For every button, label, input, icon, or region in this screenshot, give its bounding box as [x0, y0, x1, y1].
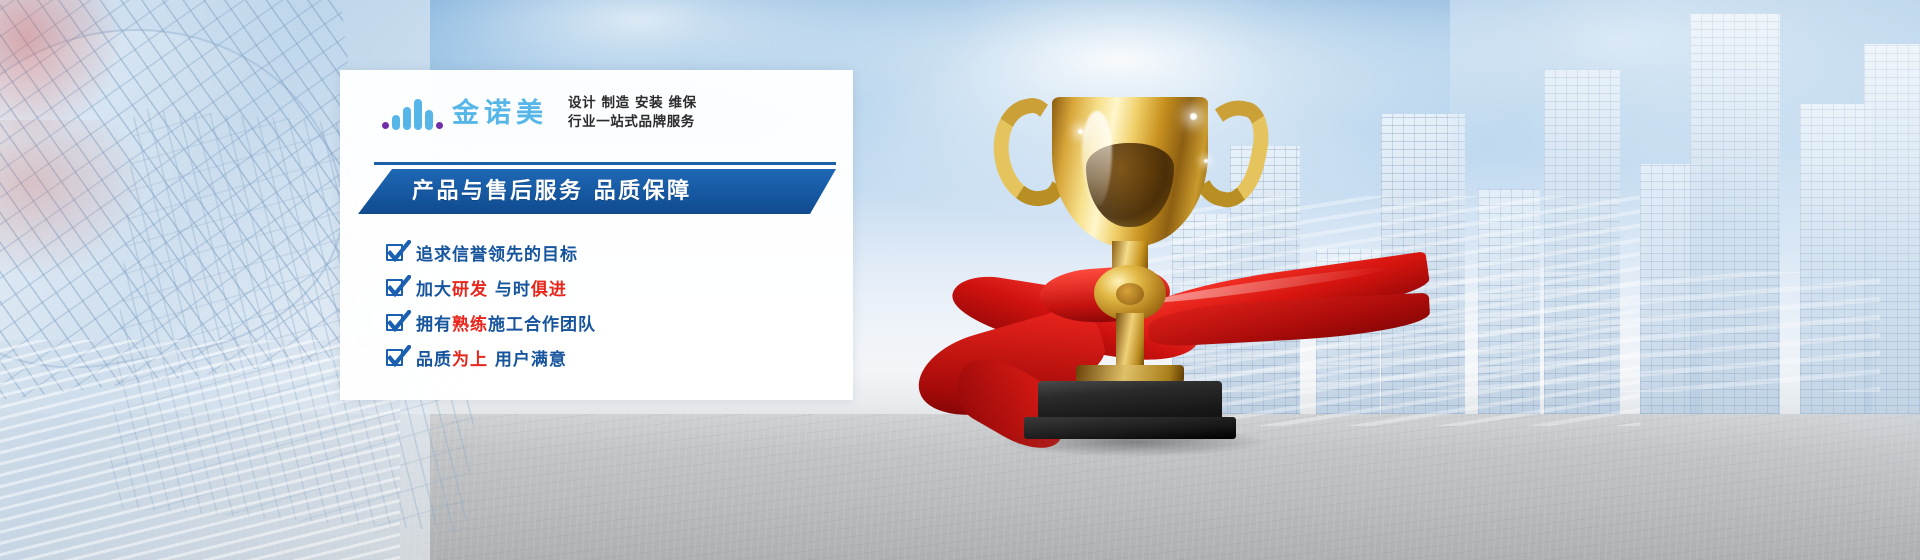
highlight-text: 俱进	[531, 280, 567, 300]
trophy-base-plate	[1024, 417, 1236, 439]
brand-tagline: 设计 制造 安装 维保 行业一站式品牌服务	[568, 94, 697, 132]
left-red-glow-2	[0, 120, 150, 280]
checkbox-checked-icon	[386, 314, 403, 331]
tagline-line-2: 行业一站式品牌服务	[568, 113, 697, 132]
highlight-text: 熟练	[452, 315, 488, 335]
sparkle-icon	[1204, 159, 1208, 163]
sound-wave-logo-icon	[382, 96, 443, 130]
feature-item-label: 加大研发 与时俱进	[416, 275, 567, 300]
checkbox-checked-icon	[386, 349, 403, 366]
logo-bar	[425, 110, 433, 130]
feature-item: 拥有熟练施工合作团队	[386, 305, 596, 339]
plain-text: 施工合作团队	[488, 315, 596, 335]
checkbox-checked-icon	[386, 244, 403, 261]
plain-text: 品质	[416, 350, 452, 370]
promo-banner: 金诺美 设计 制造 安装 维保 行业一站式品牌服务 产品与售后服务 品质保障 追…	[0, 0, 1920, 560]
logo-bar	[414, 99, 422, 130]
feature-item: 加大研发 与时俱进	[386, 270, 596, 304]
tagline-line-1: 设计 制造 安装 维保	[568, 94, 697, 113]
plain-text: 用户满意	[488, 350, 567, 370]
feature-item-label: 追求信誉领先的目标	[416, 240, 578, 265]
brand-name: 金诺美	[452, 100, 548, 127]
feature-item: 品质为上 用户满意	[386, 340, 596, 374]
headline-text: 产品与售后服务 品质保障	[412, 169, 692, 214]
trophy-stem	[1116, 313, 1144, 371]
plain-text: 追求信誉领先的目标	[416, 245, 578, 265]
feature-list: 追求信誉领先的目标加大研发 与时俱进拥有熟练施工合作团队品质为上 用户满意	[386, 235, 596, 375]
feature-item: 追求信誉领先的目标	[386, 235, 596, 269]
feature-item-label: 品质为上 用户满意	[416, 345, 567, 370]
plain-text: 加大	[416, 280, 452, 300]
logo-dot-left	[382, 122, 389, 129]
plain-text: 与时	[488, 280, 531, 300]
gold-trophy-illustration	[990, 55, 1270, 475]
highlight-text: 为上	[452, 350, 488, 370]
sparkle-icon	[1190, 113, 1197, 120]
logo-dot-right	[436, 122, 443, 129]
brand-lockup: 金诺美 设计 制造 安装 维保 行业一站式品牌服务	[382, 94, 697, 132]
checkbox-checked-icon	[386, 279, 403, 296]
plain-text: 拥有	[416, 315, 452, 335]
headline-top-rule	[374, 162, 836, 165]
trophy-rim	[1048, 91, 1212, 111]
logo-bar	[403, 107, 411, 130]
logo-bar	[392, 115, 400, 130]
trophy-knob-center	[1116, 283, 1144, 305]
headline-banner: 产品与售后服务 品质保障	[358, 162, 836, 214]
feature-item-label: 拥有熟练施工合作团队	[416, 310, 596, 335]
content-card: 金诺美 设计 制造 安装 维保 行业一站式品牌服务 产品与售后服务 品质保障 追…	[340, 70, 853, 400]
sparkle-icon	[1078, 129, 1083, 134]
highlight-text: 研发	[452, 280, 488, 300]
